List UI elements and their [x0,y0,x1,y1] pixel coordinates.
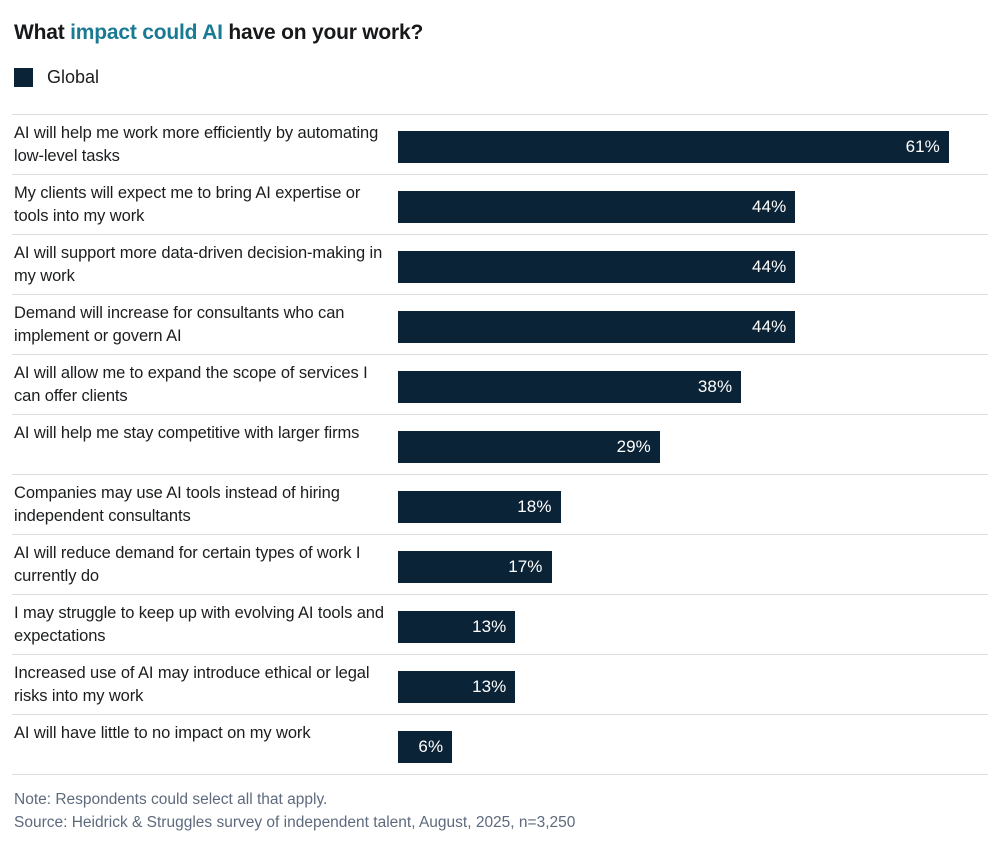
bar-value-label: 38% [698,371,741,403]
chart-row-label: AI will support more data-driven decisio… [14,242,386,288]
bar-track: 13% [398,611,976,643]
chart-row: My clients will expect me to bring AI ex… [12,174,988,234]
chart-row: AI will allow me to expand the scope of … [12,354,988,414]
chart-bottom-rule [12,774,988,775]
bar-track: 44% [398,251,976,283]
title-prefix: What [14,21,70,44]
bar: 61% [398,131,949,163]
chart-row: I may struggle to keep up with evolving … [12,594,988,654]
chart-row-label: AI will have little to no impact on my w… [14,722,386,745]
chart-row: AI will have little to no impact on my w… [12,714,988,774]
chart-row-label: I may struggle to keep up with evolving … [14,602,386,648]
bar: 44% [398,191,795,223]
bar-value-label: 13% [472,671,515,703]
bar-value-label: 18% [517,491,560,523]
bar: 44% [398,311,795,343]
chart-row: Companies may use AI tools instead of hi… [12,474,988,534]
bar-value-label: 13% [472,611,515,643]
bar: 17% [398,551,552,583]
legend-label-global: Global [47,68,99,87]
bar: 13% [398,611,515,643]
chart-page: What impact could AI have on your work? … [0,0,1000,852]
bar: 29% [398,431,660,463]
footnote-note: Note: Respondents could select all that … [14,788,575,811]
title-accent: impact could AI [70,21,223,44]
bar-chart: AI will help me work more efficiently by… [0,114,1000,775]
bar-value-label: 44% [752,191,795,223]
chart-footnote: Note: Respondents could select all that … [14,788,575,834]
bar-value-label: 6% [418,731,452,763]
bar-track: 13% [398,671,976,703]
footnote-source: Source: Heidrick & Struggles survey of i… [14,811,575,834]
chart-row-label: Companies may use AI tools instead of hi… [14,482,386,528]
chart-row-label: Increased use of AI may introduce ethica… [14,662,386,708]
chart-legend: Global [14,68,99,87]
bar-track: 29% [398,431,976,463]
bar-track: 38% [398,371,976,403]
bar: 38% [398,371,741,403]
chart-row-label: AI will help me stay competitive with la… [14,422,386,445]
chart-row-label: AI will reduce demand for certain types … [14,542,386,588]
bar-track: 44% [398,311,976,343]
bar-value-label: 44% [752,311,795,343]
bar: 13% [398,671,515,703]
bar-value-label: 17% [508,551,551,583]
bar-track: 18% [398,491,976,523]
chart-row-label: Demand will increase for consultants who… [14,302,386,348]
bar: 44% [398,251,795,283]
page-title: What impact could AI have on your work? [14,20,423,46]
chart-row-label: AI will help me work more efficiently by… [14,122,386,168]
title-suffix: have on your work? [223,21,423,44]
bar: 18% [398,491,561,523]
chart-row: AI will support more data-driven decisio… [12,234,988,294]
bar-value-label: 44% [752,251,795,283]
bar-value-label: 29% [617,431,660,463]
bar-value-label: 61% [906,131,949,163]
bar-track: 6% [398,731,976,763]
chart-row-label: My clients will expect me to bring AI ex… [14,182,386,228]
bar-track: 17% [398,551,976,583]
bar-track: 61% [398,131,976,163]
chart-row: AI will help me stay competitive with la… [12,414,988,474]
legend-swatch-global [14,68,33,87]
chart-row: Increased use of AI may introduce ethica… [12,654,988,714]
chart-row: Demand will increase for consultants who… [12,294,988,354]
chart-row: AI will reduce demand for certain types … [12,534,988,594]
bar-track: 44% [398,191,976,223]
chart-row: AI will help me work more efficiently by… [12,114,988,174]
chart-row-label: AI will allow me to expand the scope of … [14,362,386,408]
bar: 6% [398,731,452,763]
